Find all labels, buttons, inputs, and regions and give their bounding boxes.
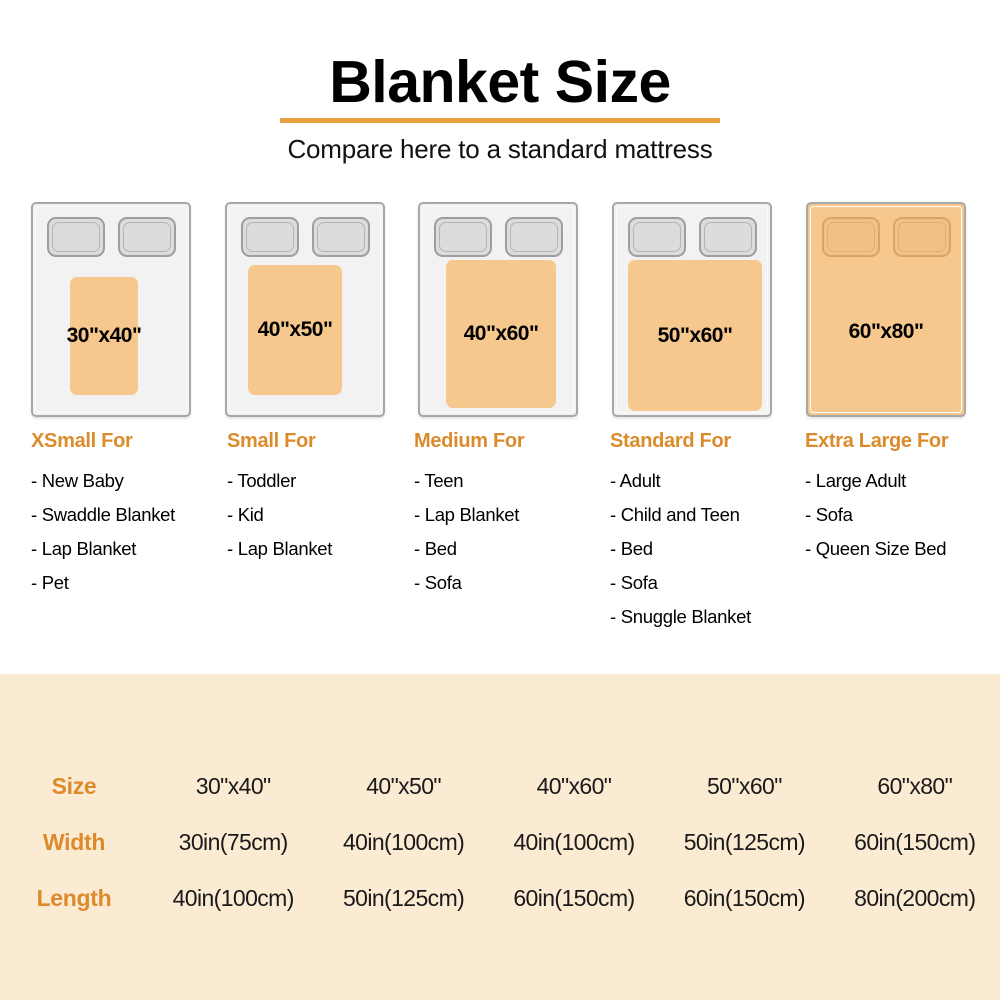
category-column-xsmall: XSmall For - New Baby - Swaddle Blanket …: [31, 430, 226, 600]
title-underline: [280, 118, 720, 123]
table-cell: 40in(100cm): [148, 870, 318, 926]
category-list-item: - Teen: [414, 464, 609, 498]
table-cell: 30in(75cm): [148, 814, 318, 870]
category-heading: XSmall For: [31, 430, 226, 453]
bed-diagram-row: 30"x40" 40"x50" 40"x60" 50"x60": [0, 202, 1000, 418]
category-column-extra-large: Extra Large For - Large Adult - Sofa - Q…: [805, 430, 1000, 566]
category-heading: Medium For: [414, 430, 609, 453]
category-heading: Standard For: [610, 430, 810, 453]
table-cell: 60in(150cm): [830, 814, 1000, 870]
category-list-item: - Kid: [227, 498, 417, 532]
table-row: Length 40in(100cm) 50in(125cm) 60in(150c…: [0, 870, 1000, 926]
pillow-icon-left: [241, 217, 299, 257]
pillow-icon-left: [47, 217, 105, 257]
page-subtitle: Compare here to a standard mattress: [0, 134, 1000, 165]
blanket-size-label: 30"x40": [67, 324, 142, 348]
blanket-size-label: 60"x80": [808, 320, 964, 344]
category-list-item: - Sofa: [414, 566, 609, 600]
blanket-swatch: 40"x50": [248, 265, 342, 395]
table-cell: 60"x80": [830, 758, 1000, 814]
category-list-item: - Bed: [414, 532, 609, 566]
table-cell: 50in(125cm): [318, 870, 488, 926]
bed-diagram-standard: 50"x60": [612, 202, 772, 417]
pillow-icon-right: [505, 217, 563, 257]
row-label-length: Length: [0, 870, 148, 926]
table-cell: 60in(150cm): [659, 870, 829, 926]
blanket-size-infographic: Blanket Size Compare here to a standard …: [0, 0, 1000, 1000]
category-list-item: - Snuggle Blanket: [610, 600, 810, 634]
table-cell: 40"x50": [318, 758, 488, 814]
category-column-medium: Medium For - Teen - Lap Blanket - Bed - …: [414, 430, 609, 600]
bed-diagram-extra-large: 60"x80": [806, 202, 966, 417]
category-list-item: - Child and Teen: [610, 498, 810, 532]
pillow-icon-right: [312, 217, 370, 257]
bed-diagram-medium: 40"x60": [418, 202, 578, 417]
pillow-icon-right: [893, 217, 951, 257]
bed-diagram-small: 40"x50": [225, 202, 385, 417]
row-label-width: Width: [0, 814, 148, 870]
blanket-size-label: 50"x60": [658, 324, 733, 348]
category-column-standard: Standard For - Adult - Child and Teen - …: [610, 430, 810, 634]
category-list-item: - Adult: [610, 464, 810, 498]
spec-panel: Size 30"x40" 40"x50" 40"x60" 50"x60" 60"…: [0, 674, 1000, 1000]
category-list-item: - Lap Blanket: [227, 532, 417, 566]
table-cell: 50"x60": [659, 758, 829, 814]
pillow-icon-left: [822, 217, 880, 257]
row-label-size: Size: [0, 758, 148, 814]
table-cell: 50in(125cm): [659, 814, 829, 870]
table-cell: 30"x40": [148, 758, 318, 814]
category-heading: Extra Large For: [805, 430, 1000, 453]
table-cell: 40in(100cm): [489, 814, 659, 870]
category-list-item: - New Baby: [31, 464, 226, 498]
pillow-icon-left: [434, 217, 492, 257]
category-list-item: - Queen Size Bed: [805, 532, 1000, 566]
blanket-swatch: 30"x40": [70, 277, 138, 395]
table-cell: 60in(150cm): [489, 870, 659, 926]
category-list-item: - Toddler: [227, 464, 417, 498]
blanket-swatch: 50"x60": [628, 260, 762, 411]
table-cell: 80in(200cm): [830, 870, 1000, 926]
category-list-item: - Lap Blanket: [31, 532, 226, 566]
category-list-item: - Bed: [610, 532, 810, 566]
category-list-item: - Pet: [31, 566, 226, 600]
table-cell: 40"x60": [489, 758, 659, 814]
category-list-item: - Sofa: [805, 498, 1000, 532]
blanket-size-label: 40"x60": [464, 322, 539, 346]
category-column-small: Small For - Toddler - Kid - Lap Blanket: [227, 430, 417, 566]
table-cell: 40in(100cm): [318, 814, 488, 870]
table-row: Size 30"x40" 40"x50" 40"x60" 50"x60" 60"…: [0, 758, 1000, 814]
blanket-size-label: 40"x50": [258, 318, 333, 342]
pillow-icon-left: [628, 217, 686, 257]
page-title: Blanket Size: [329, 0, 671, 112]
category-list-item: - Sofa: [610, 566, 810, 600]
bed-diagram-xsmall: 30"x40": [31, 202, 191, 417]
pillow-icon-right: [118, 217, 176, 257]
category-list-item: - Lap Blanket: [414, 498, 609, 532]
spec-table: Size 30"x40" 40"x50" 40"x60" 50"x60" 60"…: [0, 758, 1000, 926]
blanket-swatch: 40"x60": [446, 260, 556, 408]
category-list-item: - Swaddle Blanket: [31, 498, 226, 532]
category-heading: Small For: [227, 430, 417, 453]
category-list-item: - Large Adult: [805, 464, 1000, 498]
table-row: Width 30in(75cm) 40in(100cm) 40in(100cm)…: [0, 814, 1000, 870]
pillow-icon-right: [699, 217, 757, 257]
header: Blanket Size Compare here to a standard …: [0, 0, 1000, 165]
